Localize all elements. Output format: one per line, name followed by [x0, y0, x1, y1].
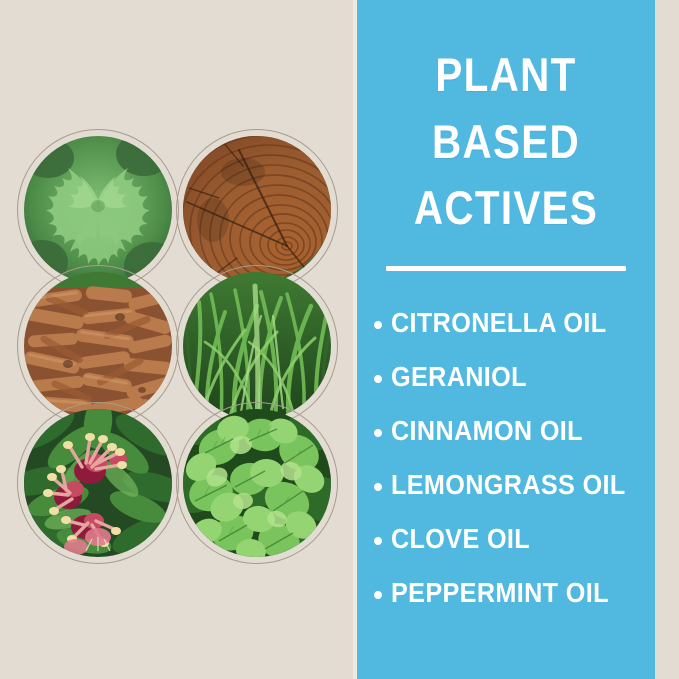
plant-based-actives-poster: PLANT BASED ACTIVES CITRONELLA OIL GERAN…: [0, 0, 679, 679]
bullet-dot-icon: [374, 537, 382, 545]
actives-list: CITRONELLA OIL GERANIOL CINNAMON OIL LEM…: [374, 296, 664, 620]
list-item-label: CITRONELLA OIL: [391, 307, 606, 339]
bullet-dot-icon: [374, 483, 382, 491]
clove-buds-photo: [17, 402, 179, 564]
list-item-label: PEPPERMINT OIL: [391, 577, 609, 609]
list-item-label: CINNAMON OIL: [391, 415, 583, 447]
list-item: CITRONELLA OIL: [374, 296, 664, 350]
list-item: CINNAMON OIL: [374, 404, 664, 458]
photo-ring: [176, 402, 338, 564]
page-title-line-2: BASED: [378, 109, 634, 176]
list-item: GERANIOL: [374, 350, 664, 404]
page-title-line-3: ACTIVES: [378, 175, 634, 242]
list-item: CLOVE OIL: [374, 512, 664, 566]
list-item: PEPPERMINT OIL: [374, 566, 664, 620]
list-item-label: GERANIOL: [391, 361, 527, 393]
bullet-dot-icon: [374, 591, 382, 599]
page-title-line-1: PLANT: [378, 42, 634, 109]
bullet-dot-icon: [374, 429, 382, 437]
list-item-label: CLOVE OIL: [391, 523, 530, 555]
page-title: PLANT BASED ACTIVES: [357, 42, 655, 242]
bullet-dot-icon: [374, 375, 382, 383]
list-item-label: LEMONGRASS OIL: [391, 469, 626, 501]
title-divider: [386, 266, 626, 271]
bullet-dot-icon: [374, 321, 382, 329]
photo-ring: [17, 402, 179, 564]
peppermint-photo: [176, 402, 338, 564]
list-item: LEMONGRASS OIL: [374, 458, 664, 512]
